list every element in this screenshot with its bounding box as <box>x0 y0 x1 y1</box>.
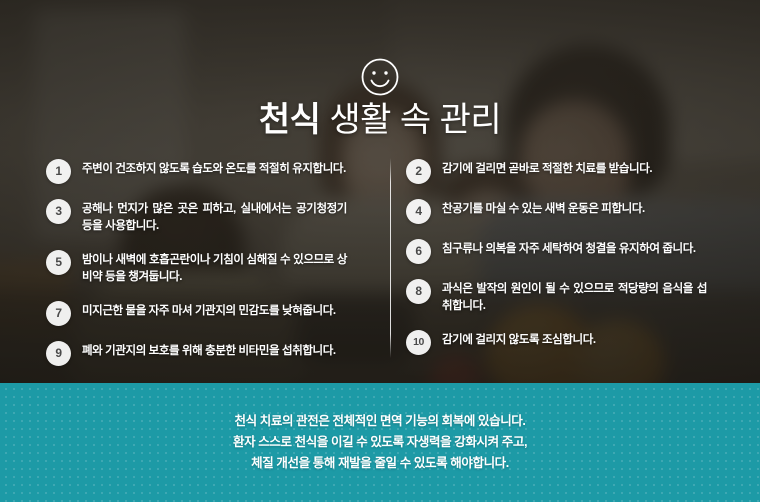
footer-line-2: 환자 스스로 천식을 이길 수 있도록 자생력을 강화시켜 주고, <box>233 432 527 453</box>
tip-number-badge: 3 <box>46 199 71 224</box>
footer-line-1: 천식 치료의 관전은 전체적인 면역 기능의 회복에 있습니다. <box>235 411 526 432</box>
tip-text: 침구류나 의복을 자주 세탁하여 청결을 유지하여 줍니다. <box>442 238 696 258</box>
tip-number-badge: 10 <box>406 330 431 355</box>
list-item: 8 과식은 발작의 원인이 될 수 있으므로 적당량의 음식을 섭취합니다. <box>406 278 746 315</box>
list-item: 5 밤이나 새벽에 호흡곤란이나 기침이 심해질 수 있으므로 상비약 등을 챙… <box>46 249 386 286</box>
tip-number-badge: 9 <box>46 341 71 366</box>
list-item: 2 감기에 걸리면 곧바로 적절한 치료를 받습니다. <box>406 158 746 184</box>
smiley-face-icon <box>360 57 400 97</box>
tip-text: 공해나 먼지가 많은 곳은 피하고, 실내에서는 공기청정기 등을 사용합니다. <box>82 198 347 235</box>
list-item: 10 감기에 걸리지 않도록 조심합니다. <box>406 329 746 355</box>
tip-text: 과식은 발작의 원인이 될 수 있으므로 적당량의 음식을 섭취합니다. <box>442 278 707 315</box>
page-title: 천식 생활 속 관리 <box>0 100 760 140</box>
list-item: 6 침구류나 의복을 자주 세탁하여 청결을 유지하여 줍니다. <box>406 238 746 264</box>
tip-number-badge: 7 <box>46 301 71 326</box>
page-title-light: 생활 속 관리 <box>329 101 501 139</box>
tips-column-right: 2 감기에 걸리면 곧바로 적절한 치료를 받습니다. 4 찬공기를 마실 수 … <box>406 158 746 369</box>
tip-text: 미지근한 물을 자주 마셔 기관지의 민감도를 낮혀줍니다. <box>82 300 336 320</box>
tips-column-left: 1 주변이 건조하지 않도록 습도와 온도를 적절히 유지합니다. 3 공해나 … <box>46 158 386 380</box>
tip-number-badge: 2 <box>406 159 431 184</box>
tip-number-badge: 8 <box>406 279 431 304</box>
footer-line-3: 체질 개선을 통해 재발을 줄일 수 있도록 해야합니다. <box>251 453 509 474</box>
tip-number-badge: 5 <box>46 250 71 275</box>
list-item: 1 주변이 건조하지 않도록 습도와 온도를 적절히 유지합니다. <box>46 158 386 184</box>
footer-panel: 천식 치료의 관전은 전체적인 면역 기능의 회복에 있습니다. 환자 스스로 … <box>0 383 760 502</box>
poster-root: 천식 생활 속 관리 1 주변이 건조하지 않도록 습도와 온도를 적절히 유지… <box>0 0 760 502</box>
list-item: 4 찬공기를 마실 수 있는 새벽 운동은 피합니다. <box>406 198 746 224</box>
list-item: 3 공해나 먼지가 많은 곳은 피하고, 실내에서는 공기청정기 등을 사용합니… <box>46 198 386 235</box>
tip-text: 밤이나 새벽에 호흡곤란이나 기침이 심해질 수 있으므로 상비약 등을 챙겨둡… <box>82 249 347 286</box>
tip-text: 폐와 기관지의 보호를 위해 충분한 비타민을 섭취합니다. <box>82 340 336 360</box>
tip-number-badge: 1 <box>46 159 71 184</box>
tip-number-badge: 6 <box>406 239 431 264</box>
tip-text: 감기에 걸리지 않도록 조심합니다. <box>442 329 596 349</box>
list-item: 9 폐와 기관지의 보호를 위해 충분한 비타민을 섭취합니다. <box>46 340 386 366</box>
list-item: 7 미지근한 물을 자주 마셔 기관지의 민감도를 낮혀줍니다. <box>46 300 386 326</box>
tips-columns: 1 주변이 건조하지 않도록 습도와 온도를 적절히 유지합니다. 3 공해나 … <box>0 158 760 368</box>
tip-number-badge: 4 <box>406 199 431 224</box>
tip-text: 주변이 건조하지 않도록 습도와 온도를 적절히 유지합니다. <box>82 158 346 178</box>
page-title-strong: 천식 <box>259 101 321 139</box>
poster-content: 천식 생활 속 관리 1 주변이 건조하지 않도록 습도와 온도를 적절히 유지… <box>0 0 760 383</box>
tip-text: 찬공기를 마실 수 있는 새벽 운동은 피합니다. <box>442 198 645 218</box>
tip-text: 감기에 걸리면 곧바로 적절한 치료를 받습니다. <box>442 158 652 178</box>
